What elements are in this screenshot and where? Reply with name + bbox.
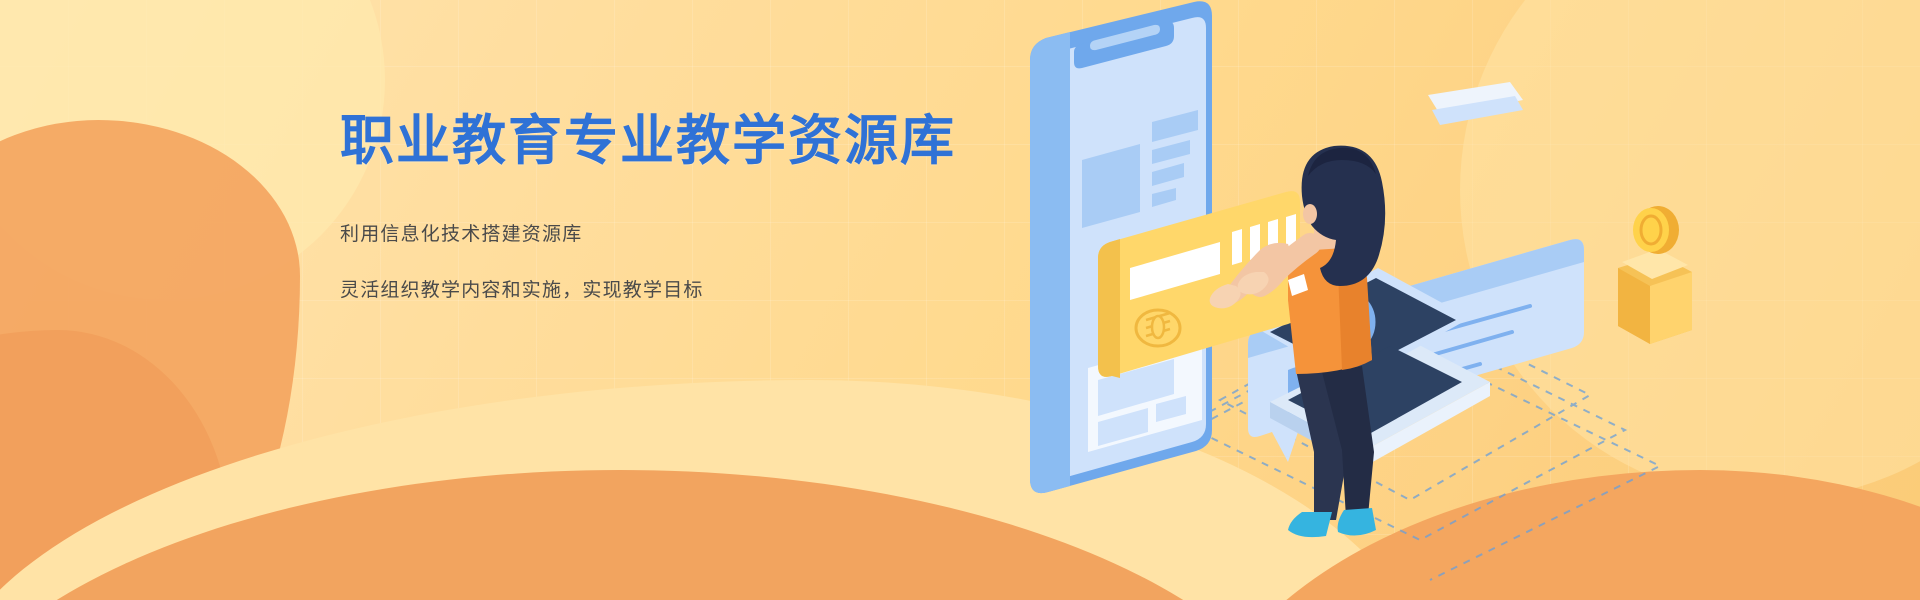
hero-banner: 职业教育专业教学资源库 利用信息化技术搭建资源库 灵活组织教学内容和实施，实现教… bbox=[0, 0, 1920, 600]
page-title: 职业教育专业教学资源库 bbox=[340, 110, 1100, 173]
hero-copy: 职业教育专业教学资源库 利用信息化技术搭建资源库 灵活组织教学内容和实施，实现教… bbox=[340, 110, 1100, 306]
coin-box bbox=[1618, 206, 1692, 344]
floating-card-small bbox=[1428, 82, 1523, 125]
subtitle-line-2: 灵活组织教学内容和实施，实现教学目标 bbox=[340, 277, 1100, 306]
subtitle-line-1: 利用信息化技术搭建资源库 bbox=[340, 221, 1100, 250]
